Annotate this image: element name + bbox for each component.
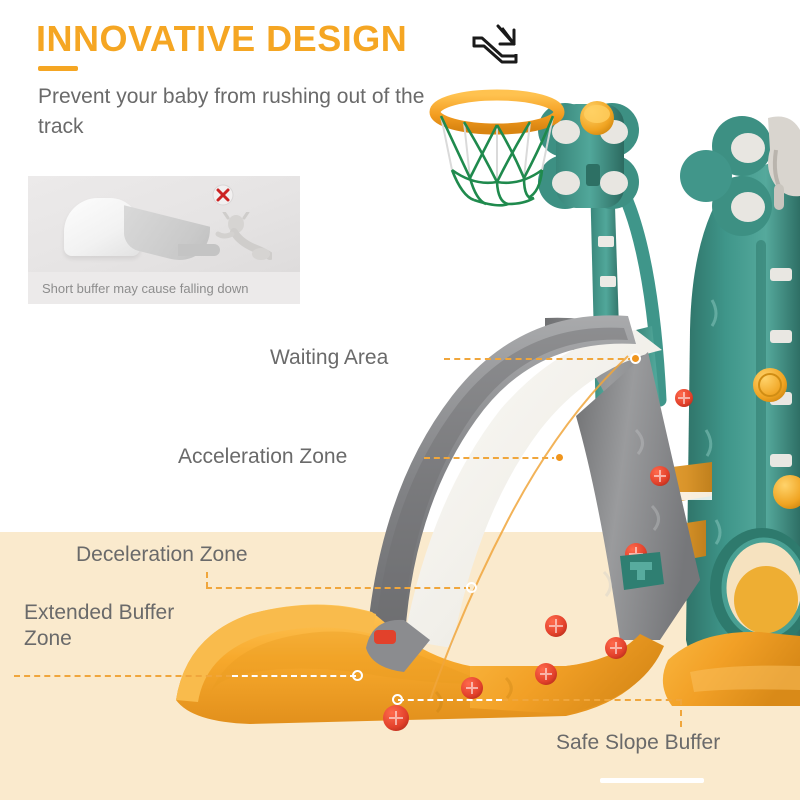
leader-line-safe-slope-buffer [502,699,682,701]
callout-label-deceleration-zone: Deceleration Zone [76,542,248,568]
escalator-down-icon [468,20,524,68]
red-x-icon [212,184,234,206]
page-title: INNOVATIVE DESIGN [36,18,407,60]
leader-dot-safe-slope-buffer [392,694,403,705]
title-underline [38,66,78,71]
leader-line-extended-buffer-zone-overlay [232,675,356,677]
leader-dot-waiting-area [630,353,641,364]
inset-caption: Short buffer may cause falling down [28,272,300,304]
bottom-accent-bar [600,778,704,783]
leader-line-extended-buffer-zone [14,675,232,677]
leader-line-waiting-area [444,358,634,360]
callout-label-safe-slope-buffer: Safe Slope Buffer [556,730,720,756]
leader-dot-acceleration-zone [554,452,565,463]
leader-line-safe-slope-buffer-overlay [398,699,502,701]
inset-slide-ramp [124,205,210,268]
right-base-foot [663,632,800,706]
leader-line-deceleration-zone [206,587,470,589]
leader-dot-deceleration-zone [466,582,477,593]
warning-inset: Short buffer may cause falling down [28,176,300,304]
falling-child-figure [214,212,272,264]
right-side-panel [680,116,800,700]
leader-line-acceleration-zone [424,457,558,459]
infographic-canvas: INNOVATIVE DESIGN Prevent your baby from… [0,0,800,800]
callout-label-waiting-area: Waiting Area [270,345,388,371]
leader-line-safe-slope-buffer-stem [680,699,682,727]
leader-line-deceleration-zone-stem [206,572,208,588]
leader-dot-extended-buffer-zone [352,670,363,681]
page-subtitle: Prevent your baby from rushing out of th… [38,82,438,143]
callout-label-extended-buffer-zone: Extended Buffer Zone [24,600,194,653]
inset-photo [28,176,300,272]
callout-label-acceleration-zone: Acceleration Zone [178,444,347,470]
